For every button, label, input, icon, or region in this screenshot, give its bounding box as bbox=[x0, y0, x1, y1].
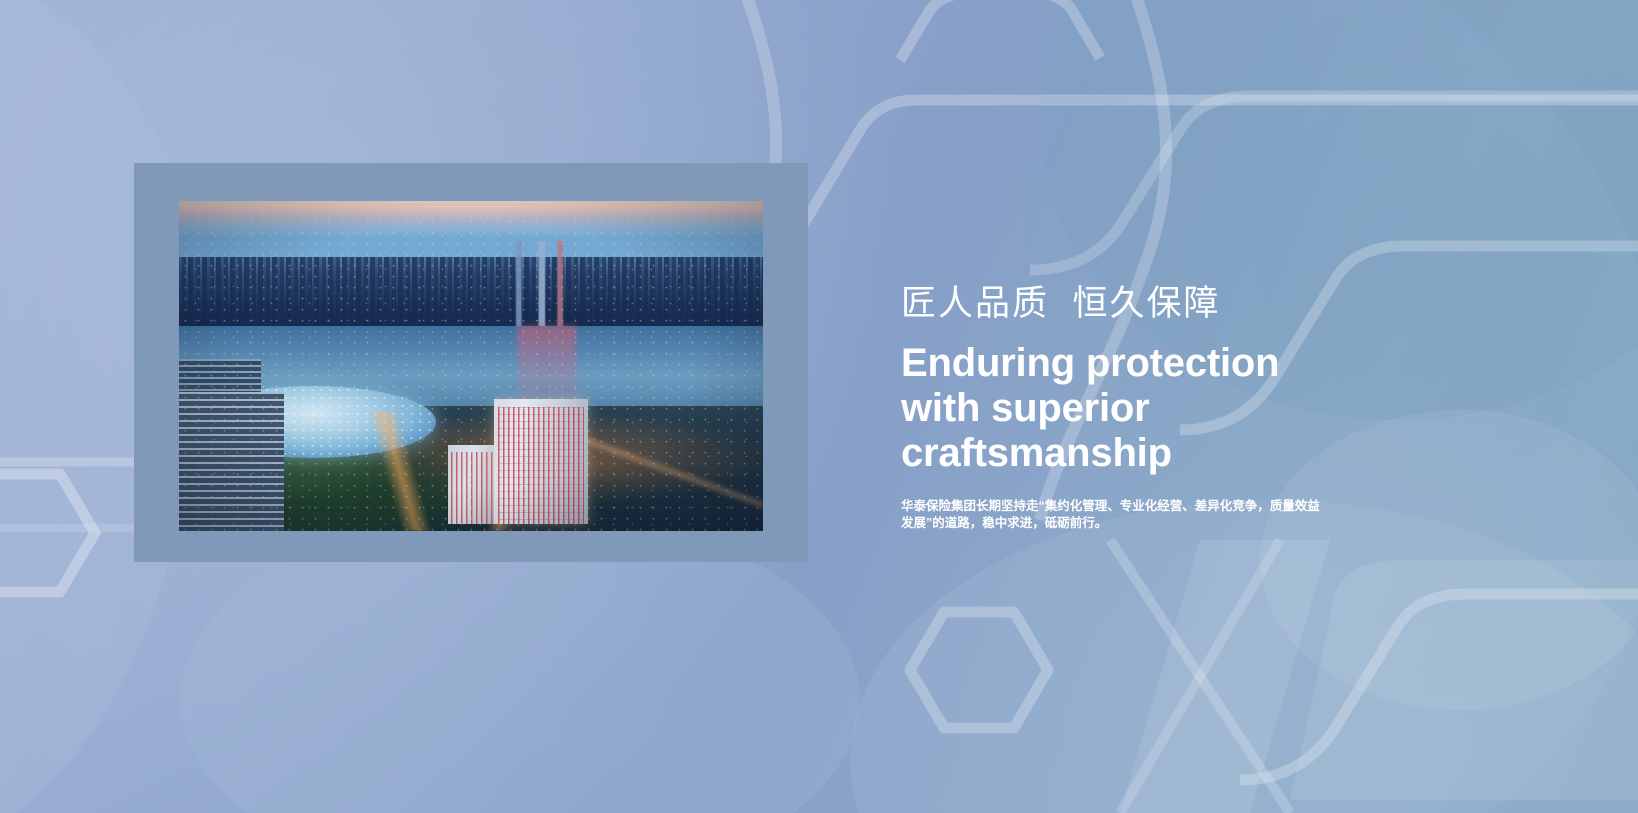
headline-english-line2: with superior craftsmanship bbox=[901, 386, 1421, 476]
headline-chinese: 匠人品质 恒久保障 bbox=[901, 286, 1421, 321]
banner-hero: 匠人品质 恒久保障 Enduring protection with super… bbox=[0, 0, 1638, 813]
photo-frame bbox=[134, 163, 808, 562]
photo-vignette bbox=[179, 201, 763, 531]
subcopy-line2: 发展”的道路，稳中求进，砥砺前行。 bbox=[901, 515, 1381, 532]
subcopy-line1: 华泰保险集团长期坚持走“集约化管理、专业化经营、差异化竞争，质量效益 bbox=[901, 498, 1381, 515]
headline-english: Enduring protection with superior crafts… bbox=[901, 341, 1421, 476]
headline-english-line1: Enduring protection bbox=[901, 341, 1421, 386]
subcopy: 华泰保险集团长期坚持走“集约化管理、专业化经营、差异化竞争，质量效益 发展”的道… bbox=[901, 498, 1381, 532]
hero-copy: 匠人品质 恒久保障 Enduring protection with super… bbox=[901, 286, 1421, 532]
hero-photo bbox=[179, 201, 763, 531]
